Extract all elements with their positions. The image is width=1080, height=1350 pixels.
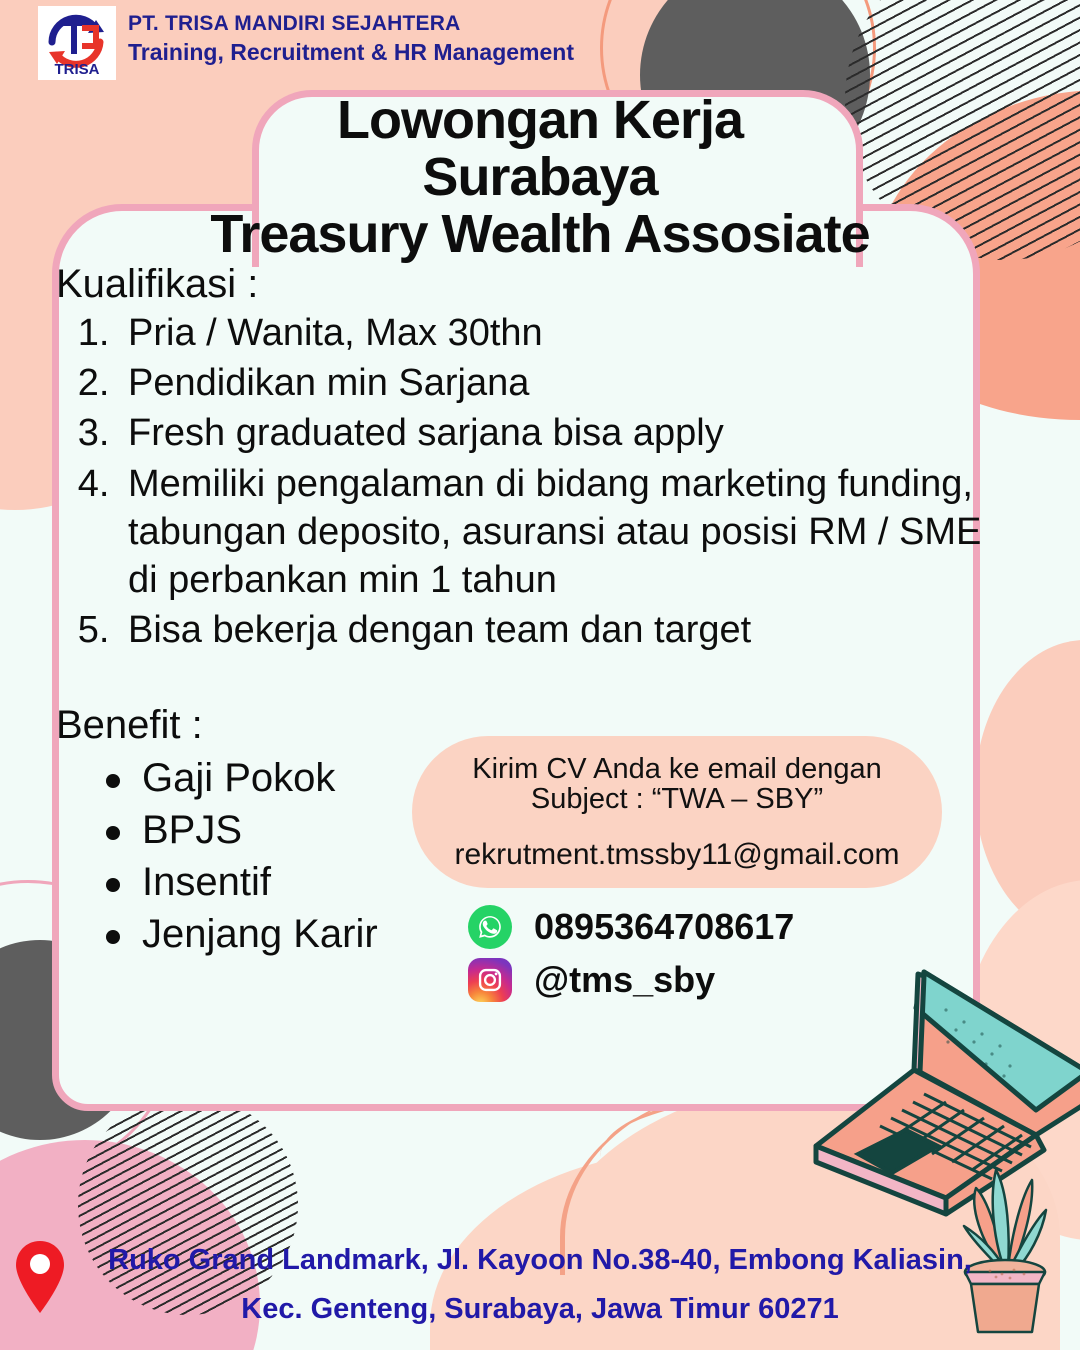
poster-header: TRISA PT. TRISA MANDIRI SEJAHTERA Traini… — [0, 0, 1080, 86]
apply-instruction-text: Kirim CV Anda ke email dengan Subject : … — [418, 755, 936, 814]
page-title: Lowongan Kerja Surabaya Treasury Wealth … — [90, 92, 990, 264]
apply-instruction-line-2: Subject : “TWA – SBY” — [418, 785, 936, 815]
whatsapp-icon — [468, 905, 512, 949]
list-item: Fresh graduated sarjana bisa apply — [120, 409, 986, 457]
title-line-3: Treasury Wealth Assosiate — [90, 206, 990, 263]
list-item: Pria / Wanita, Max 30thn — [120, 309, 986, 357]
footer-address: Ruko Grand Landmark, Jl. Kayoon No.38-40… — [70, 1236, 1010, 1335]
address-line-2: Kec. Genteng, Surabaya, Jawa Timur 60271 — [70, 1285, 1010, 1334]
list-item: Bisa bekerja dengan team dan target — [120, 606, 986, 654]
apply-email[interactable]: rekrutment.tmssby11@gmail.com — [418, 838, 936, 872]
whatsapp-contact[interactable]: 0895364708617 — [468, 905, 794, 949]
address-line-1: Ruko Grand Landmark, Jl. Kayoon No.38-40… — [70, 1236, 1010, 1285]
company-identity: PT. TRISA MANDIRI SEJAHTERA Training, Re… — [128, 12, 574, 66]
apply-instruction-line-1: Kirim CV Anda ke email dengan — [418, 755, 936, 785]
list-item: Pendidikan min Sarjana — [120, 359, 986, 407]
trisa-logo-mark: TRISA — [40, 8, 114, 78]
title-line-1: Lowongan Kerja — [90, 92, 990, 149]
qualifications-list: Pria / Wanita, Max 30thn Pendidikan min … — [56, 309, 986, 655]
instagram-handle: @tms_sby — [534, 959, 715, 1001]
title-line-2: Surabaya — [90, 149, 990, 206]
instagram-contact[interactable]: @tms_sby — [468, 958, 715, 1002]
qualifications-heading: Kualifikasi : — [56, 262, 986, 307]
trisa-logo: TRISA — [38, 6, 116, 80]
svg-text:TRISA: TRISA — [55, 61, 100, 78]
poster-canvas: TRISA PT. TRISA MANDIRI SEJAHTERA Traini… — [0, 0, 1080, 1350]
company-name: PT. TRISA MANDIRI SEJAHTERA — [128, 12, 574, 36]
salmon-blob-right-mid — [975, 640, 1080, 940]
list-item: Memiliki pengalaman di bidang marketing … — [120, 460, 986, 605]
instagram-icon — [468, 958, 512, 1002]
phone-number: 0895364708617 — [534, 906, 794, 948]
map-pin-icon — [12, 1237, 68, 1317]
company-tagline: Training, Recruitment & HR Management — [128, 39, 574, 66]
